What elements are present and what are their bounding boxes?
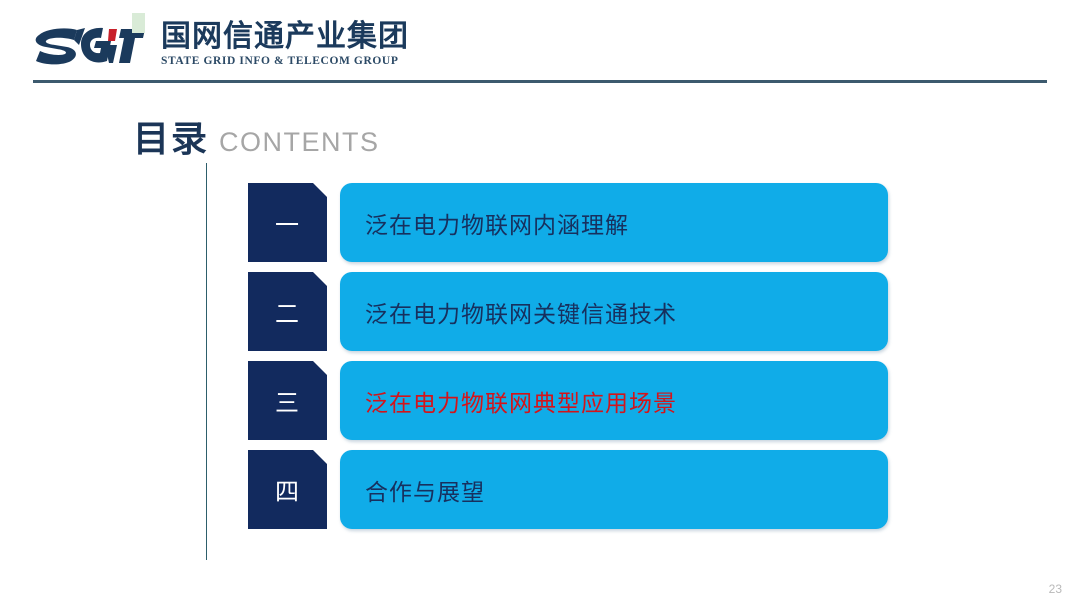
slide-contents: 国网信通产业集团 STATE GRID INFO & TELECOM GROUP…	[0, 0, 1080, 608]
sgit-logomark-icon	[33, 19, 145, 69]
company-logo: 国网信通产业集团 STATE GRID INFO & TELECOM GROUP	[33, 13, 409, 69]
item-bar[interactable]: 合作与展望	[340, 450, 888, 529]
list-item[interactable]: 二 泛在电力物联网关键信通技术	[248, 272, 888, 351]
list-item[interactable]: 四 合作与展望	[248, 450, 888, 529]
brand-text: 国网信通产业集团 STATE GRID INFO & TELECOM GROUP	[161, 22, 409, 68]
page-title-cn: 目录	[133, 122, 209, 158]
item-label: 泛在电力物联网内涵理解	[340, 206, 629, 240]
page-number: 23	[1049, 582, 1062, 596]
item-label: 泛在电力物联网关键信通技术	[340, 295, 677, 329]
header-divider	[33, 80, 1047, 83]
item-label: 合作与展望	[340, 473, 485, 507]
page-title-en: CONTENTS	[219, 129, 380, 156]
brand-name-en: STATE GRID INFO & TELECOM GROUP	[161, 56, 409, 68]
item-bar[interactable]: 泛在电力物联网关键信通技术	[340, 272, 888, 351]
page-title: 目录 CONTENTS	[133, 122, 380, 158]
item-number-badge: 四	[248, 450, 327, 529]
brand-name-cn: 国网信通产业集团	[161, 22, 409, 52]
contents-list: 一 泛在电力物联网内涵理解 二 泛在电力物联网关键信通技术 三 泛在电力物联网典…	[248, 183, 888, 539]
item-bar[interactable]: 泛在电力物联网内涵理解	[340, 183, 888, 262]
item-number-badge: 一	[248, 183, 327, 262]
list-item[interactable]: 三 泛在电力物联网典型应用场景	[248, 361, 888, 440]
green-accent-chip	[132, 13, 145, 33]
list-item[interactable]: 一 泛在电力物联网内涵理解	[248, 183, 888, 262]
item-number-badge: 三	[248, 361, 327, 440]
item-label: 泛在电力物联网典型应用场景	[340, 384, 677, 418]
vertical-guide-line	[206, 163, 207, 560]
item-bar[interactable]: 泛在电力物联网典型应用场景	[340, 361, 888, 440]
slide-header: 国网信通产业集团 STATE GRID INFO & TELECOM GROUP	[0, 0, 1080, 78]
item-number-badge: 二	[248, 272, 327, 351]
